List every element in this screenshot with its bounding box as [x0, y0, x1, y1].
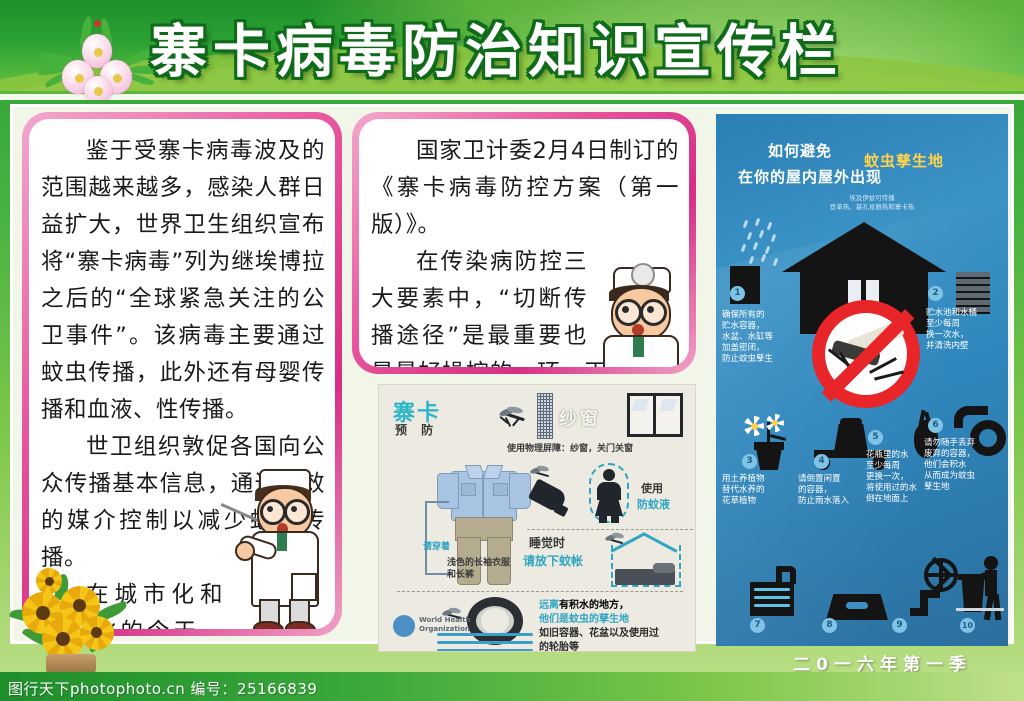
- article-paragraph: 国家卫计委2月4日制订的《寨卡病毒防控方案（第一版）》。: [371, 133, 679, 244]
- who-line-1: World Health: [419, 616, 471, 625]
- breeding-number-6: 6: [928, 418, 943, 433]
- breeding-subtitle-2: 登革热、基孔肯雅热和寨卡热: [802, 203, 942, 212]
- no-mosquito-icon: [812, 300, 924, 412]
- article-column-2-frame: 国家卫计委2月4日制订的《寨卡病毒防控方案（第一版）》。 在传染病防控三大要素中…: [352, 112, 696, 374]
- roof-gutter-fan-icon: [908, 558, 966, 624]
- breeding-number-2: 2: [928, 286, 943, 301]
- breeding-number-4: 4: [814, 454, 829, 469]
- infographic-breeding-sites: 如何避免 蚊虫孳生地 在你的屋内屋外出现 埃及伊蚊可传播 登革热、基孔肯雅热和寨…: [716, 114, 1008, 646]
- breeding-title-1: 如何避免: [768, 140, 832, 161]
- breeding-number-10: 10: [960, 618, 975, 633]
- mosquito-icon-2: [529, 465, 553, 483]
- breeding-title-3: 在你的屋内屋外出现: [738, 166, 882, 187]
- breeding-item-6: 请勿随手丢弃 废弃的容器， 他们会积水 从而成为蚊虫 孳生地: [924, 438, 994, 493]
- info-screen-label: 纱窗: [559, 405, 601, 431]
- breeding-item-5: 花瓶里的水 至少每周 更换一次， 将使用过的水 倒在地面上: [866, 450, 928, 505]
- info-barrier-text: 使用物理屏障：纱窗，关门关窗: [507, 443, 692, 455]
- infographic-zika-prevention: 寨卡 预 防 纱窗 使用物理屏障：纱窗，关门关窗: [378, 384, 696, 652]
- breeding-number-1: 1: [730, 286, 745, 301]
- drain-cover-icon: [826, 588, 888, 622]
- breeding-number-5: 5: [868, 430, 883, 445]
- spray-bottle-icon: [531, 481, 575, 525]
- window-icon: [627, 393, 683, 437]
- info-net-action: 请放下蚊帐: [523, 555, 583, 567]
- page-title: 寨卡病毒防治知识宣传栏: [150, 18, 890, 86]
- who-logo-icon: World Health Organization: [393, 613, 503, 639]
- article-paragraph: 鉴于受寨卡病毒波及的范围越来越多，感染人群日益扩大，世界卫生组织宣布将“寨卡病毒…: [41, 133, 325, 429]
- mosquito-net-icon: [597, 533, 689, 593]
- breeding-number-8: 8: [822, 618, 837, 633]
- info-net-when: 睡觉时: [529, 537, 565, 549]
- who-line-2: Organization: [419, 625, 471, 634]
- info-water-rest: 有积水的地方，: [559, 600, 629, 611]
- person-icon: [585, 463, 633, 525]
- breeding-number-3: 3: [742, 454, 757, 469]
- info-repellent-use: 使用: [641, 483, 663, 495]
- info-water-line2: 他们是蚊虫的孳生地: [539, 613, 689, 627]
- breeding-number-9: 9: [892, 618, 907, 633]
- trash-bin-icon: [960, 556, 1008, 624]
- orchid-flower-icon: [38, 14, 158, 100]
- info-repellent-name: 防蚊液: [637, 499, 670, 511]
- cartoon-doctor-head-icon: [595, 267, 685, 363]
- breeding-item-4: 请倒置闲置 的容器， 防止雨水落入: [798, 474, 868, 507]
- breeding-item-1: 确保所有的 贮水容器， 水盆、水缸等 加盖密闭， 防止蚊虫孳生: [722, 310, 794, 365]
- breeding-subtitle-1: 埃及伊蚊可传播: [802, 194, 942, 203]
- shirt-icon: [437, 463, 529, 519]
- window-screen-icon: [537, 393, 553, 439]
- watermark-text: 图行天下photophoto.cn 编号：25166839: [8, 678, 317, 699]
- mosquito-icon: [497, 405, 531, 429]
- poster-root: 寨卡病毒防治知识宣传栏 鉴于受寨卡病毒波及的范围越来越多，感染人群日益扩大，世界…: [0, 0, 1024, 701]
- info-clothing-detail: 浅色的长袖衣服和长裤: [447, 557, 513, 581]
- sunflower-bouquet-icon: [6, 556, 138, 680]
- swimming-pool-icon: [744, 566, 804, 624]
- header-banner: 寨卡病毒防治知识宣传栏: [0, 0, 1024, 100]
- breeding-item-3: 用土养植物 替代水养的 花草植物: [722, 474, 788, 507]
- info-clothing-wear: 请穿着: [423, 541, 463, 553]
- breeding-number-7: 7: [750, 618, 765, 633]
- info-water-keep: 远离: [539, 600, 559, 611]
- info-water-line4: 的轮胎等: [539, 641, 689, 652]
- info-water-line3: 如旧容器、花盆以及使用过: [539, 627, 689, 641]
- breeding-item-2: 贮水池和水桶 至少每周 换一次水， 并清洗内壁: [926, 308, 1004, 352]
- info-prevention-subtitle: 预 防: [395, 421, 438, 438]
- cartoon-doctor-icon: [233, 469, 335, 629]
